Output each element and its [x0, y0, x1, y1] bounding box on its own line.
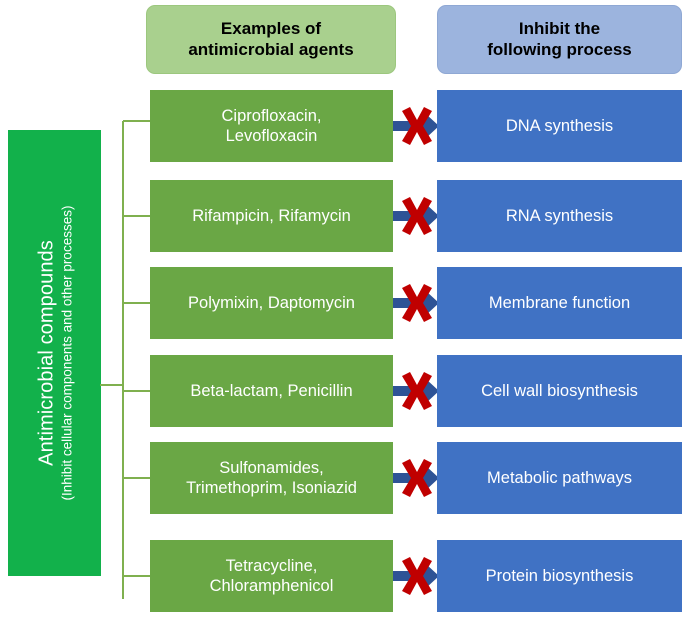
header-process: Inhibit the following process [437, 5, 682, 74]
agent-text: Beta-lactam, Penicillin [190, 381, 352, 401]
blocked-arrow-icon [393, 459, 439, 497]
process-box: RNA synthesis [437, 180, 682, 252]
process-label: RNA synthesis [506, 206, 613, 226]
blocked-arrow-icon [393, 107, 439, 145]
agent-text: Ciprofloxacin, Levofloxacin [222, 106, 322, 147]
process-box: Membrane function [437, 267, 682, 339]
agent-text: Polymixin, Daptomycin [188, 293, 355, 313]
agent-box: Rifampicin, Rifamycin [150, 180, 393, 252]
agent-line1: Tetracycline, [226, 557, 318, 575]
agent-box: Tetracycline, Chloramphenicol [150, 540, 393, 612]
process-label: Protein biosynthesis [486, 566, 634, 586]
process-label: DNA synthesis [506, 116, 613, 136]
agent-box: Ciprofloxacin, Levofloxacin [150, 90, 393, 162]
header-process-line2: following process [487, 40, 632, 59]
agent-line1: Beta-lactam, Penicillin [190, 382, 352, 400]
process-box: DNA synthesis [437, 90, 682, 162]
agent-box: Polymixin, Daptomycin [150, 267, 393, 339]
diagram-row: Beta-lactam, Penicillin Cell wall biosyn… [0, 355, 685, 427]
agent-box: Sulfonamides, Trimethoprim, Isoniazid [150, 442, 393, 514]
agent-text: Rifampicin, Rifamycin [192, 206, 351, 226]
agent-line1: Sulfonamides, [219, 459, 324, 477]
agent-text: Sulfonamides, Trimethoprim, Isoniazid [186, 458, 357, 499]
header-agents-line1: Examples of [221, 19, 321, 38]
header-process-line1: Inhibit the [519, 19, 600, 38]
header-agents-line2: antimicrobial agents [188, 40, 353, 59]
agent-line1: Polymixin, Daptomycin [188, 294, 355, 312]
agent-line2: Chloramphenicol [210, 577, 334, 595]
header-agents: Examples of antimicrobial agents [146, 5, 396, 74]
bracket-connector [100, 85, 154, 600]
blocked-arrow-icon [393, 197, 439, 235]
diagram-canvas: Antimicrobial compounds (Inhibit cellula… [0, 0, 685, 621]
header-process-text: Inhibit the following process [487, 19, 632, 59]
header-agents-text: Examples of antimicrobial agents [188, 19, 353, 59]
diagram-row: Tetracycline, Chloramphenicol Protein bi… [0, 540, 685, 612]
agent-line2: Levofloxacin [226, 127, 318, 145]
process-box: Protein biosynthesis [437, 540, 682, 612]
process-label: Metabolic pathways [487, 468, 632, 488]
diagram-row: Rifampicin, Rifamycin RNA synthesis [0, 180, 685, 252]
agent-box: Beta-lactam, Penicillin [150, 355, 393, 427]
diagram-row: Polymixin, Daptomycin Membrane function [0, 267, 685, 339]
diagram-row: Sulfonamides, Trimethoprim, Isoniazid Me… [0, 442, 685, 514]
blocked-arrow-icon [393, 284, 439, 322]
agent-text: Tetracycline, Chloramphenicol [210, 556, 334, 597]
process-label: Membrane function [489, 293, 630, 313]
process-box: Metabolic pathways [437, 442, 682, 514]
blocked-arrow-icon [393, 557, 439, 595]
agent-line2: Trimethoprim, Isoniazid [186, 479, 357, 497]
agent-line1: Ciprofloxacin, [222, 107, 322, 125]
blocked-arrow-icon [393, 372, 439, 410]
process-box: Cell wall biosynthesis [437, 355, 682, 427]
process-label: Cell wall biosynthesis [481, 381, 638, 401]
agent-line1: Rifampicin, Rifamycin [192, 207, 351, 225]
diagram-row: Ciprofloxacin, Levofloxacin DNA synthesi… [0, 90, 685, 162]
